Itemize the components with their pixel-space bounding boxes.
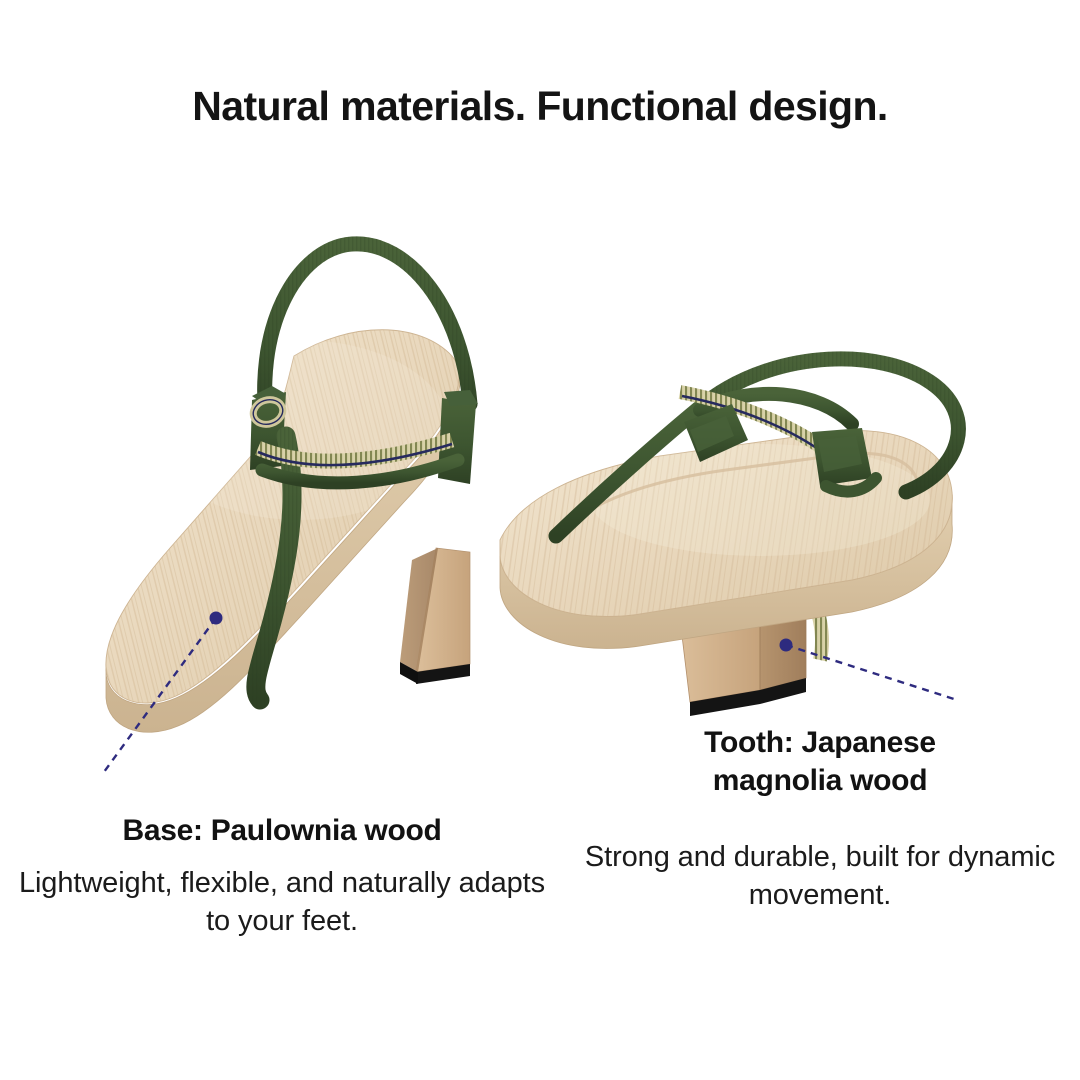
leader-line-base (104, 618, 216, 772)
callout-tooth-title-line-2: magnolia wood (713, 764, 927, 797)
infographic-canvas: Natural materials. Functional design. (0, 0, 1080, 1080)
callout-tooth-body: Strong and durable, built for dynamic mo… (570, 838, 1070, 915)
callout-base-title: Base: Paulownia wood (12, 812, 552, 850)
callout-dot-base (210, 612, 223, 625)
callout-dot-tooth (780, 639, 793, 652)
callout-tooth-title: Tooth: Japanese magnolia wood (570, 724, 1070, 800)
callout-base: Base: Paulownia wood Lightweight, flexib… (12, 812, 552, 940)
callout-tooth: Tooth: Japanese magnolia wood Strong and… (570, 724, 1070, 914)
callout-tooth-title-line-1: Tooth: Japanese (704, 726, 936, 759)
leader-line-tooth (786, 645, 957, 700)
callout-base-body: Lightweight, flexible, and naturally ada… (12, 864, 552, 941)
